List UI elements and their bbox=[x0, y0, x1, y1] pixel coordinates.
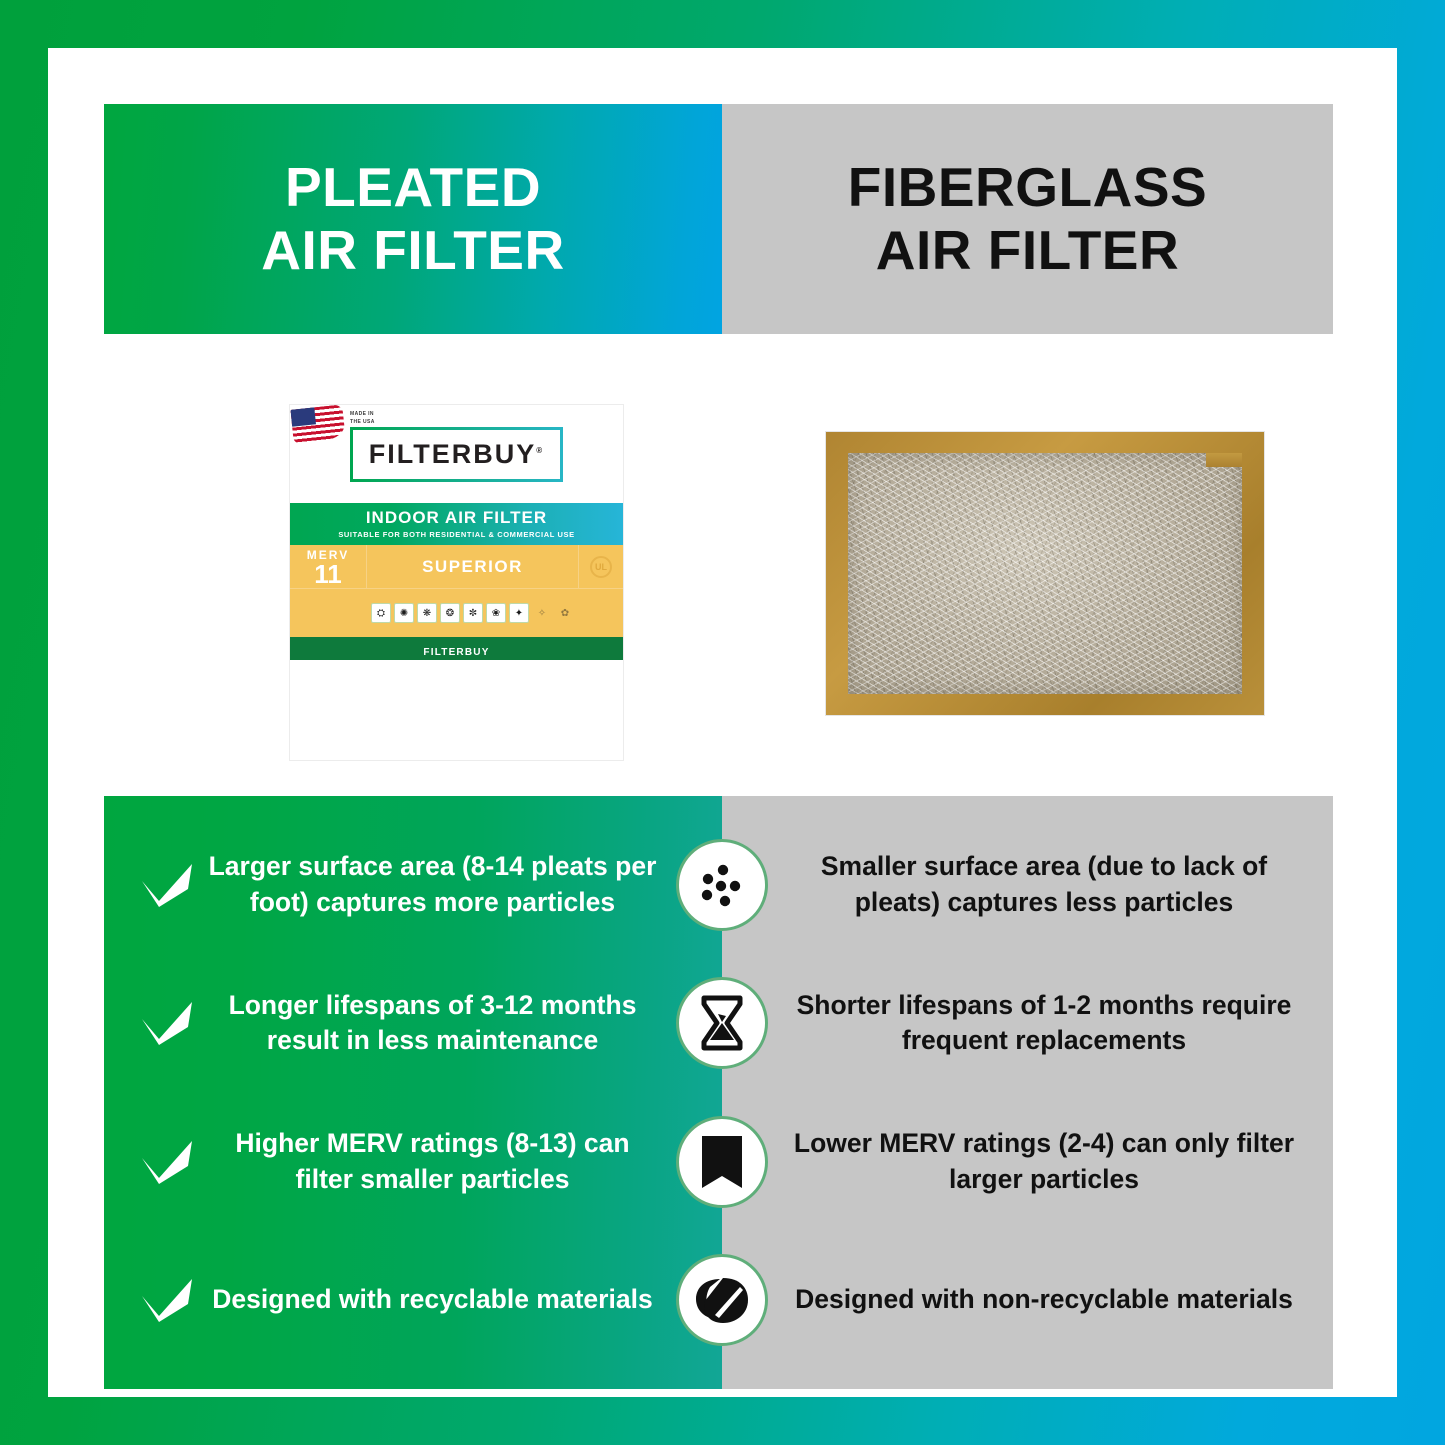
header-fiberglass-line2: AIR FILTER bbox=[848, 219, 1207, 282]
pollen-icon: ✺ bbox=[394, 603, 414, 623]
certification-mark-wrap: UL bbox=[579, 545, 623, 588]
infographic-card: PLEATED AIR FILTER FIBERGLASS AIR FILTER… bbox=[48, 48, 1397, 1397]
box-spec-top: MERV 11 SUPERIOR UL bbox=[290, 545, 623, 589]
particles-icon bbox=[676, 839, 768, 931]
bookmark-icon bbox=[676, 1116, 768, 1208]
comparison-row-stack: Larger surface area (8-14 pleats per foo… bbox=[104, 796, 1333, 1389]
box-spec-bottom: ⛭ ✺ ❋ ❂ ✼ ❀ ✦ ✧ ✿ bbox=[290, 589, 623, 637]
box-bottom-wordmark: FILTERBUY bbox=[290, 647, 623, 658]
row-right-text-1: Smaller surface area (due to lack of ple… bbox=[777, 849, 1333, 921]
virus-icon-disabled: ✧ bbox=[532, 603, 552, 623]
header-pleated-line1: PLEATED bbox=[285, 156, 541, 218]
row-left-3: Higher MERV ratings (8-13) can filter sm… bbox=[104, 1126, 667, 1198]
cardboard-frame-seam bbox=[1206, 453, 1242, 467]
comparison-row: Higher MERV ratings (8-13) can filter sm… bbox=[104, 1093, 1333, 1231]
row-left-text-3: Higher MERV ratings (8-13) can filter sm… bbox=[204, 1126, 667, 1198]
box-band-subtitle: SUITABLE FOR BOTH RESIDENTIAL & COMMERCI… bbox=[290, 530, 623, 539]
row-left-text-2: Longer lifespans of 3-12 months result i… bbox=[204, 988, 667, 1060]
bacteria-icon: ❋ bbox=[417, 603, 437, 623]
box-indoor-band: INDOOR AIR FILTER SUITABLE FOR BOTH RESI… bbox=[290, 503, 623, 545]
row-right-text-2: Shorter lifespans of 1-2 months require … bbox=[777, 988, 1333, 1060]
dust-icon: ⛭ bbox=[371, 603, 391, 623]
pleated-media-photo: FILTERBUY bbox=[290, 637, 623, 660]
header-fiberglass: FIBERGLASS AIR FILTER bbox=[722, 104, 1333, 334]
hourglass-icon bbox=[676, 977, 768, 1069]
header-pleated: PLEATED AIR FILTER bbox=[104, 104, 722, 334]
row-left-1: Larger surface area (8-14 pleats per foo… bbox=[104, 849, 667, 921]
row-left-text-1: Larger surface area (8-14 pleats per foo… bbox=[204, 849, 667, 921]
allergen-icon: ✦ bbox=[509, 603, 529, 623]
ul-certification-icon: UL bbox=[590, 556, 612, 578]
mold-spore-icon: ❂ bbox=[440, 603, 460, 623]
filterbuy-filter-box-image: MADE IN THE USA FILTERBUY® INDOOR AIR FI… bbox=[290, 405, 623, 760]
leaf-eco-icon bbox=[676, 1254, 768, 1346]
header-fiberglass-title: FIBERGLASS AIR FILTER bbox=[848, 156, 1207, 283]
row-right-text-3: Lower MERV ratings (2-4) can only filter… bbox=[777, 1126, 1333, 1198]
row-left-2: Longer lifespans of 3-12 months result i… bbox=[104, 988, 667, 1060]
trademark-symbol: ® bbox=[536, 446, 544, 455]
product-images-row: MADE IN THE USA FILTERBUY® INDOOR AIR FI… bbox=[104, 334, 1333, 796]
filterbuy-logo: FILTERBUY® bbox=[350, 427, 563, 482]
capability-icon-strip: ⛭ ✺ ❋ ❂ ✼ ❀ ✦ ✧ ✿ bbox=[367, 603, 575, 623]
box-spec-panel: MERV 11 SUPERIOR UL ⛭ ✺ ❋ ❂ bbox=[290, 545, 623, 637]
row-icon-slot-2 bbox=[667, 977, 777, 1069]
row-icon-slot-3 bbox=[667, 1116, 777, 1208]
comparison-row: Designed with recyclable materials Desig… bbox=[104, 1231, 1333, 1369]
row-left-4: Designed with recyclable materials bbox=[104, 1276, 667, 1324]
filterbuy-wordmark: FILTERBUY bbox=[369, 439, 537, 469]
comparison-row: Larger surface area (8-14 pleats per foo… bbox=[104, 816, 1333, 954]
comparison-row: Longer lifespans of 3-12 months result i… bbox=[104, 954, 1333, 1092]
fiberglass-media-texture bbox=[848, 453, 1242, 694]
usa-flag-icon bbox=[290, 405, 345, 444]
box-band-title: INDOOR AIR FILTER bbox=[290, 508, 623, 528]
checkmark-icon bbox=[138, 1276, 196, 1324]
row-right-text-4: Designed with non-recyclable materials bbox=[777, 1282, 1333, 1318]
header-pleated-title: PLEATED AIR FILTER bbox=[261, 156, 564, 283]
checkmark-icon bbox=[138, 1138, 196, 1186]
pet-dander-icon: ❀ bbox=[486, 603, 506, 623]
row-left-text-4: Designed with recyclable materials bbox=[204, 1282, 667, 1318]
checkmark-icon bbox=[138, 999, 196, 1047]
comparison-panel: Larger surface area (8-14 pleats per foo… bbox=[104, 796, 1333, 1389]
merv-value: 11 bbox=[290, 562, 366, 587]
pleated-product-cell: MADE IN THE USA FILTERBUY® INDOOR AIR FI… bbox=[104, 334, 722, 796]
fiberglass-filter-image bbox=[826, 432, 1264, 715]
header-pleated-line2: AIR FILTER bbox=[261, 219, 564, 282]
row-icon-slot-4 bbox=[667, 1254, 777, 1346]
merv-block: MERV 11 bbox=[290, 545, 367, 588]
box-top-panel: MADE IN THE USA FILTERBUY® bbox=[290, 405, 623, 503]
fiberglass-product-cell bbox=[722, 334, 1333, 796]
header-fiberglass-line1: FIBERGLASS bbox=[848, 156, 1207, 218]
made-in-usa-text: MADE IN THE USA bbox=[350, 411, 375, 426]
smoke-particle-icon: ✼ bbox=[463, 603, 483, 623]
row-icon-slot-1 bbox=[667, 839, 777, 931]
header-band: PLEATED AIR FILTER FIBERGLASS AIR FILTER bbox=[104, 104, 1333, 334]
odor-icon-disabled: ✿ bbox=[555, 603, 575, 623]
checkmark-icon bbox=[138, 861, 196, 909]
tier-label: SUPERIOR bbox=[367, 545, 579, 588]
